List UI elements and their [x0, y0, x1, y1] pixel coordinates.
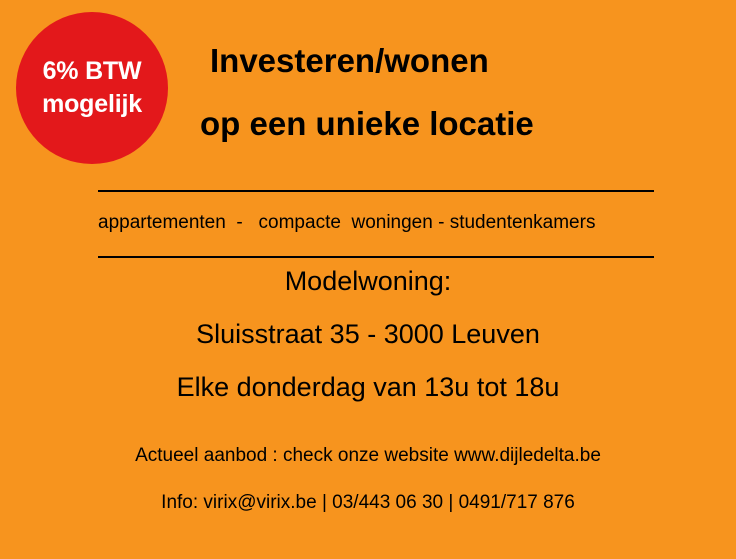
btw-badge: 6% BTW mogelijk — [16, 12, 168, 164]
footer-website-line[interactable]: Actueel aanbod : check onze website www.… — [0, 446, 736, 465]
divider-bottom — [98, 256, 654, 258]
model-home-info: Modelwoning: Sluisstraat 35 - 3000 Leuve… — [0, 268, 736, 401]
btw-badge-line2: mogelijk — [42, 88, 142, 121]
model-home-label: Modelwoning: — [0, 268, 736, 295]
property-types-line: appartementen - compacte woningen - stud… — [98, 212, 658, 235]
footer-contact: Actueel aanbod : check onze website www.… — [0, 446, 736, 512]
headline: Investeren/wonen op een unieke locatie — [200, 44, 720, 140]
poster: 6% BTW mogelijk Investeren/wonen op een … — [0, 0, 736, 559]
headline-line-1: Investeren/wonen — [210, 44, 720, 77]
btw-badge-line1: 6% BTW — [43, 55, 142, 88]
divider-top — [98, 190, 654, 192]
model-home-address: Sluisstraat 35 - 3000 Leuven — [0, 321, 736, 348]
footer-contact-line[interactable]: Info: virix@virix.be | 03/443 06 30 | 04… — [0, 493, 736, 512]
headline-line-2: op een unieke locatie — [200, 107, 720, 140]
model-home-hours: Elke donderdag van 13u tot 18u — [0, 374, 736, 401]
